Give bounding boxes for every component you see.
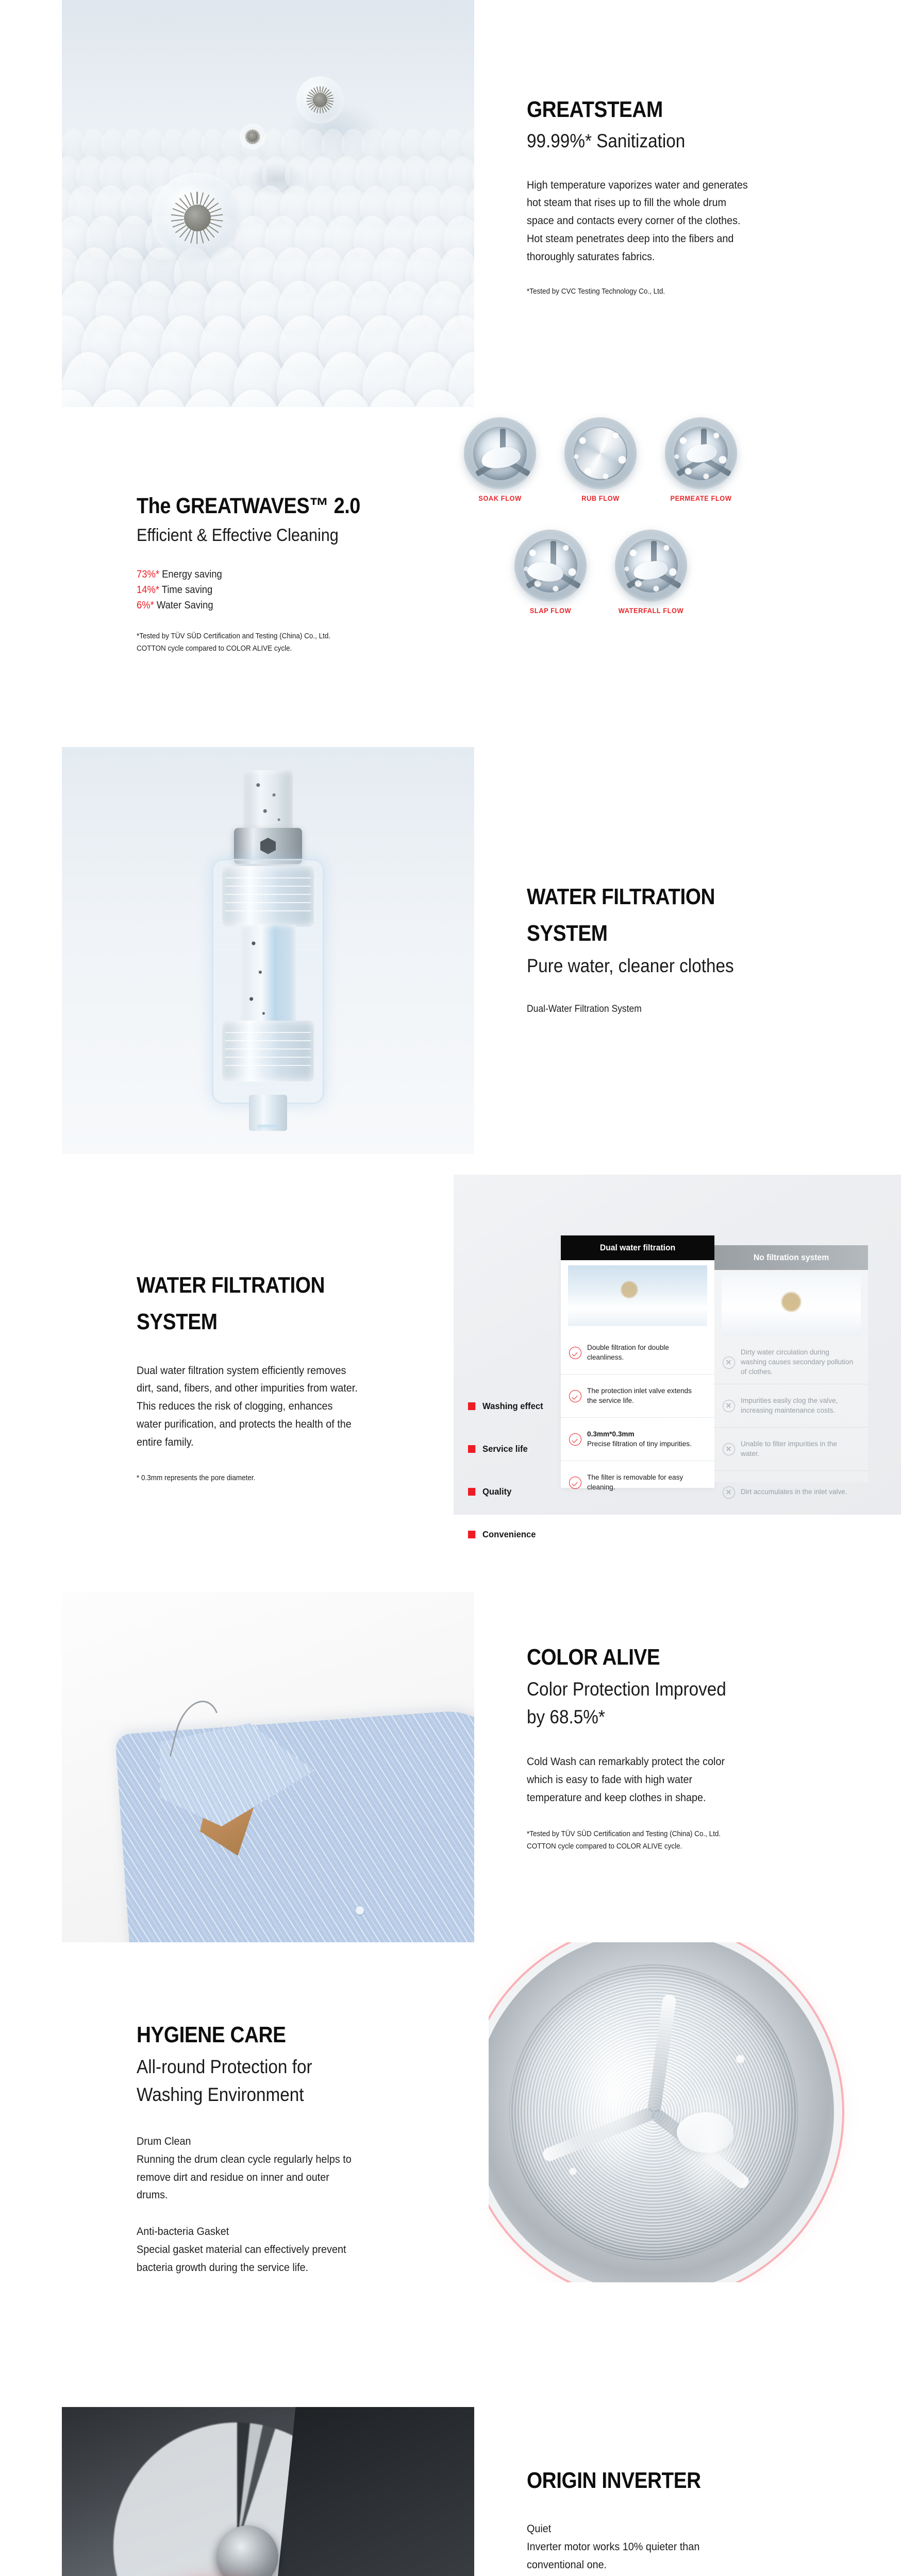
water-stream	[257, 1125, 279, 1131]
filter-device-graphic	[201, 770, 335, 1131]
flow-item-slap: SLAP FLOW	[504, 530, 597, 615]
shirt-button	[356, 1906, 364, 1914]
origin-inverter-title: ORIGIN INVERTER	[527, 2468, 781, 2493]
hygiene-care-subtitle-line1: All-round Protection for	[137, 2055, 396, 2079]
cell-text: 0.3mm*0.3mmPrecise filtration of tiny im…	[587, 1430, 692, 1449]
row-label-washing-effect: Washing effect	[468, 1385, 571, 1428]
cell-bad-quality: Unable to filter impurities in the water…	[714, 1427, 868, 1470]
flow-item-rub: RUB FLOW	[554, 417, 647, 502]
bullet-square-icon	[468, 1445, 475, 1453]
item-heading-quiet: Quiet	[527, 2520, 792, 2538]
virus-bubble-large	[152, 173, 242, 263]
hygiene-care-title: HYGIENE CARE	[137, 2022, 391, 2047]
cross-circle-icon	[723, 1486, 735, 1499]
color-alive-title: COLOR ALIVE	[527, 1645, 781, 1670]
thumbnail-no-filtration	[722, 1275, 861, 1336]
wfs-detail-title-line2: SYSTEM	[137, 1309, 391, 1334]
flow-label-permeate: PERMEATE FLOW	[657, 495, 745, 502]
stat-label-water: Water Saving	[154, 600, 213, 611]
hygiene-care-item-gasket: Anti-bacteria Gasket Special gasket mate…	[137, 2223, 425, 2276]
greatwaves-text-column: The GREATWAVES™ 2.0 Efficient & Effectiv…	[137, 494, 425, 655]
drum-interior	[509, 1964, 798, 2260]
wfs-detail-title-line1: WATER FILTRATION	[137, 1273, 391, 1298]
color-alive-subtitle-line2: by 68.5%*	[527, 1705, 787, 1729]
stat-value-water: 6%*	[137, 600, 154, 611]
cell-text: The protection inlet valve extends the s…	[587, 1386, 703, 1406]
check-circle-icon	[569, 1390, 581, 1402]
check-circle-icon	[569, 1347, 581, 1359]
stat-value-energy: 73%*	[137, 569, 159, 580]
filter-ring-top	[222, 866, 314, 927]
hygiene-care-item-drum-clean: Drum Clean Running the drum clean cycle …	[137, 2132, 425, 2204]
row-label-text: Washing effect	[482, 1401, 543, 1412]
cross-circle-icon	[723, 1400, 735, 1412]
wfs-detail-note: * 0.3mm represents the pore diameter.	[137, 1472, 396, 1484]
wfs-hero-caption: Dual-Water Filtration System	[527, 1002, 792, 1017]
cell-text: Dirty water circulation during washing c…	[741, 1348, 856, 1377]
cell-text: Dirt accumulates in the inlet valve.	[741, 1487, 847, 1497]
comparison-row-labels: Washing effect Service life Quality Conv…	[468, 1385, 571, 1556]
cell-text-bold: 0.3mm*0.3mm	[587, 1430, 635, 1438]
stat-label-energy: Energy saving	[159, 569, 222, 580]
section-origin-inverter: ORIGIN INVERTER Quiet Inverter motor wor…	[0, 2349, 901, 2576]
hygiene-drum-photo	[489, 1942, 901, 2282]
bullet-square-icon	[468, 1488, 475, 1496]
filter-inlet-pipe	[243, 770, 293, 832]
greatwaves-stat-row: 6%* Water Saving	[137, 598, 402, 613]
thumbnail-dual-filtration	[568, 1265, 707, 1326]
drum-vanes	[509, 1964, 798, 2260]
motor-housing-plate	[259, 2407, 474, 2576]
section-color-alive: COLOR ALIVE Color Protection Improved by…	[0, 1535, 901, 1942]
washer-drum-graphic	[489, 1942, 834, 2282]
bad-cells: Dirty water circulation during washing c…	[714, 1341, 868, 1514]
filtration-comparison-table: Washing effect Service life Quality Conv…	[454, 1235, 901, 1488]
greatwaves-title: The GREATWAVES™ 2.0	[137, 494, 391, 518]
greatsteam-text-column: GREATSTEAM 99.99%* Sanitization High tem…	[527, 97, 815, 298]
flow-item-waterfall: WATERFALL FLOW	[605, 530, 697, 615]
hygiene-care-subtitle-line2: Washing Environment	[137, 2082, 396, 2107]
virus-bubble-small	[240, 124, 265, 149]
greatwaves-stat-list: 73%* Energy saving 14%* Time saving 6%* …	[137, 567, 425, 614]
column-header-good: Dual water filtration	[561, 1235, 714, 1260]
good-cells: Double filtration for double cleanliness…	[561, 1331, 714, 1504]
section-water-filtration-detail: WATER FILTRATION SYSTEM Dual water filtr…	[0, 1154, 901, 1535]
greatwaves-note-line1: *Tested by TÜV SÜD Certification and Tes…	[137, 630, 396, 642]
inverter-item-quiet: Quiet Inverter motor works 10% quieter t…	[527, 2520, 815, 2573]
cell-bad-convenience: Dirt accumulates in the inlet valve.	[714, 1470, 868, 1514]
item-heading-drum-clean: Drum Clean	[137, 2132, 402, 2150]
greatwaves-stat-row: 14%* Time saving	[137, 582, 402, 598]
virus-core	[184, 205, 211, 231]
greatwaves-note-line2: COTTON cycle compared to COLOR ALIVE cyc…	[137, 642, 396, 655]
item-heading-gasket: Anti-bacteria Gasket	[137, 2223, 402, 2241]
greatsteam-illustration	[62, 0, 474, 407]
greatsteam-note: *Tested by CVC Testing Technology Co., L…	[527, 285, 787, 298]
stat-label-time: Time saving	[159, 584, 212, 596]
greatsteam-subtitle: 99.99%* Sanitization	[527, 129, 787, 153]
origin-inverter-text-column: ORIGIN INVERTER Quiet Inverter motor wor…	[527, 2468, 815, 2576]
fabric-bumps	[62, 0, 474, 407]
greatwaves-subtitle: Efficient & Effective Cleaning	[137, 524, 396, 547]
cross-circle-icon	[723, 1443, 735, 1455]
section-water-filtration-hero: WATER FILTRATION SYSTEM Pure water, clea…	[0, 747, 901, 1154]
flow-item-soak: SOAK FLOW	[454, 417, 546, 502]
drum-icon-soak	[464, 417, 536, 489]
comparison-column-dual-filtration: Dual water filtration Double filtration …	[561, 1235, 714, 1488]
cross-circle-icon	[723, 1357, 735, 1369]
wfs-hero-subtitle: Pure water, cleaner clothes	[527, 954, 787, 978]
filter-ring-bottom	[222, 1021, 314, 1081]
cell-good-convenience: The filter is removable for easy cleanin…	[561, 1461, 714, 1504]
row-label-quality: Quality	[468, 1470, 571, 1513]
water-filtration-hero-text: WATER FILTRATION SYSTEM Pure water, clea…	[527, 884, 815, 1027]
cell-text: The filter is removable for easy cleanin…	[587, 1473, 703, 1493]
color-alive-body: Cold Wash can remarkably protect the col…	[527, 1753, 749, 1806]
color-alive-shirt-photo	[62, 1592, 474, 1942]
inverter-motor-photo	[62, 2407, 474, 2576]
column-header-bad-text: No filtration system	[754, 1253, 829, 1263]
drum-icon-waterfall	[615, 530, 687, 602]
item-body-gasket: Special gasket material can effectively …	[137, 2241, 359, 2277]
row-label-text: Quality	[482, 1486, 511, 1497]
virus-core	[247, 131, 258, 142]
cell-text-rest: Precise filtration of tiny impurities.	[587, 1440, 692, 1448]
check-circle-icon	[569, 1433, 581, 1446]
greatwaves-stat-row: 73%* Energy saving	[137, 567, 402, 582]
virus-bubble-medium	[296, 76, 344, 124]
section-hygiene-care: HYGIENE CARE All-round Protection for Wa…	[0, 1942, 901, 2349]
flow-label-soak: SOAK FLOW	[456, 495, 544, 502]
color-alive-note-line1: *Tested by TÜV SÜD Certification and Tes…	[527, 1828, 787, 1840]
drum-icon-slap	[514, 530, 587, 602]
cell-good-quality: 0.3mm*0.3mmPrecise filtration of tiny im…	[561, 1417, 714, 1461]
greatsteam-body: High temperature vaporizes water and gen…	[527, 176, 749, 266]
greatsteam-title: GREATSTEAM	[527, 97, 781, 122]
item-body-drum-clean: Running the drum clean cycle regularly h…	[137, 2150, 359, 2204]
cell-bad-washing-effect: Dirty water circulation during washing c…	[714, 1341, 868, 1384]
hex-bolt-icon	[260, 838, 276, 854]
color-alive-note-line2: COTTON cycle compared to COLOR ALIVE cyc…	[527, 1840, 787, 1853]
drum-lifter	[677, 2112, 733, 2153]
stat-value-time: 14%*	[137, 584, 159, 596]
virus-core	[313, 93, 327, 107]
wfs-hero-title-line1: WATER FILTRATION	[527, 884, 781, 909]
cell-text: Impurities easily clog the valve, increa…	[741, 1396, 856, 1416]
hygiene-care-text-column: HYGIENE CARE All-round Protection for Wa…	[137, 2022, 425, 2277]
flow-label-slap: SLAP FLOW	[507, 607, 595, 615]
drum-icon-rub	[564, 417, 637, 489]
cell-good-washing-effect: Double filtration for double cleanliness…	[561, 1331, 714, 1374]
flow-label-waterfall: WATERFALL FLOW	[607, 607, 695, 615]
column-header-good-text: Dual water filtration	[600, 1243, 675, 1253]
filter-mesh-core	[240, 925, 296, 1028]
section-greatsteam: GREATSTEAM 99.99%* Sanitization High tem…	[0, 0, 901, 407]
column-header-bad: No filtration system	[714, 1245, 868, 1270]
flow-item-permeate: PERMEATE FLOW	[655, 417, 747, 502]
drum-icon-permeate	[665, 417, 737, 489]
cell-good-service-life: The protection inlet valve extends the s…	[561, 1374, 714, 1417]
water-filter-illustration	[62, 747, 474, 1154]
product-detail-page: GREATSTEAM 99.99%* Sanitization High tem…	[0, 0, 901, 2576]
item-body-quiet: Inverter motor works 10% quieter than co…	[527, 2538, 749, 2574]
section-greatwaves: The GREATWAVES™ 2.0 Efficient & Effectiv…	[0, 407, 901, 747]
row-label-service-life: Service life	[468, 1428, 571, 1470]
cell-text: Double filtration for double cleanliness…	[587, 1343, 703, 1363]
cell-text: Unable to filter impurities in the water…	[741, 1439, 856, 1459]
cell-bad-service-life: Impurities easily clog the valve, increa…	[714, 1384, 868, 1427]
water-filtration-detail-text: WATER FILTRATION SYSTEM Dual water filtr…	[137, 1273, 425, 1484]
wfs-detail-body: Dual water filtration system efficiently…	[137, 1362, 359, 1451]
color-alive-text-column: COLOR ALIVE Color Protection Improved by…	[527, 1645, 815, 1853]
bullet-square-icon	[468, 1402, 475, 1410]
color-alive-subtitle-line1: Color Protection Improved	[527, 1677, 787, 1701]
check-circle-icon	[569, 1477, 581, 1489]
wfs-hero-title-line2: SYSTEM	[527, 921, 781, 946]
row-label-text: Service life	[482, 1444, 528, 1454]
comparison-column-no-filtration: No filtration system Dirty water circula…	[714, 1245, 868, 1482]
flow-label-rub: RUB FLOW	[557, 495, 645, 502]
